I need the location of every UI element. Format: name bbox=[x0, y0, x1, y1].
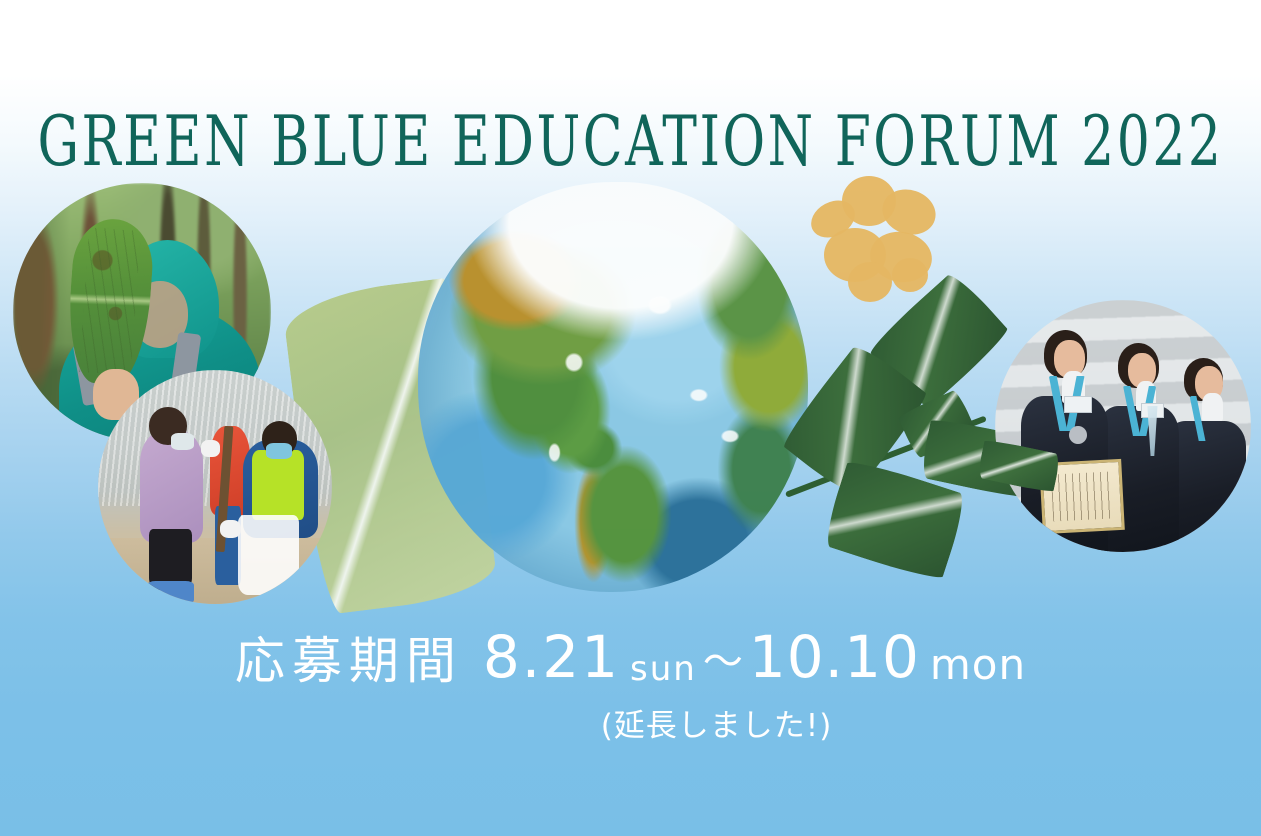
flower-petal bbox=[892, 258, 928, 292]
name-tag bbox=[1064, 396, 1092, 414]
glove bbox=[201, 440, 220, 456]
trash-bag bbox=[238, 515, 299, 595]
globe-watercolor bbox=[418, 182, 808, 592]
start-date: 8.21 bbox=[483, 628, 620, 686]
face-mask bbox=[171, 433, 194, 449]
application-period: 応募期間 8.21 sun 〜 10.10 mon bbox=[0, 628, 1261, 686]
yellow-flower-illustration bbox=[808, 176, 948, 306]
award-ceremony-photo bbox=[995, 300, 1251, 552]
glove bbox=[220, 520, 241, 539]
end-date: 10.10 bbox=[749, 628, 920, 686]
page-title: GREEN BLUE EDUCATION FORUM 2022 bbox=[0, 102, 1261, 182]
extension-note: (延長しました!) bbox=[0, 700, 1261, 745]
application-period-label: 応募期間 bbox=[235, 636, 463, 686]
earth-globe-illustration bbox=[418, 182, 808, 592]
safety-vest bbox=[252, 450, 303, 520]
beach-cleanup-photo bbox=[98, 370, 332, 604]
rain-boots bbox=[147, 581, 194, 604]
start-weekday: sun bbox=[630, 652, 697, 686]
date-range-separator: 〜 bbox=[703, 642, 743, 682]
face-mask bbox=[266, 443, 292, 459]
medal bbox=[1069, 426, 1087, 444]
end-weekday: mon bbox=[930, 644, 1026, 686]
green-blue-education-forum-banner: GREEN BLUE EDUCATION FORUM 2022 応募期間 8.2… bbox=[0, 0, 1261, 836]
student-shirt bbox=[1202, 393, 1222, 421]
